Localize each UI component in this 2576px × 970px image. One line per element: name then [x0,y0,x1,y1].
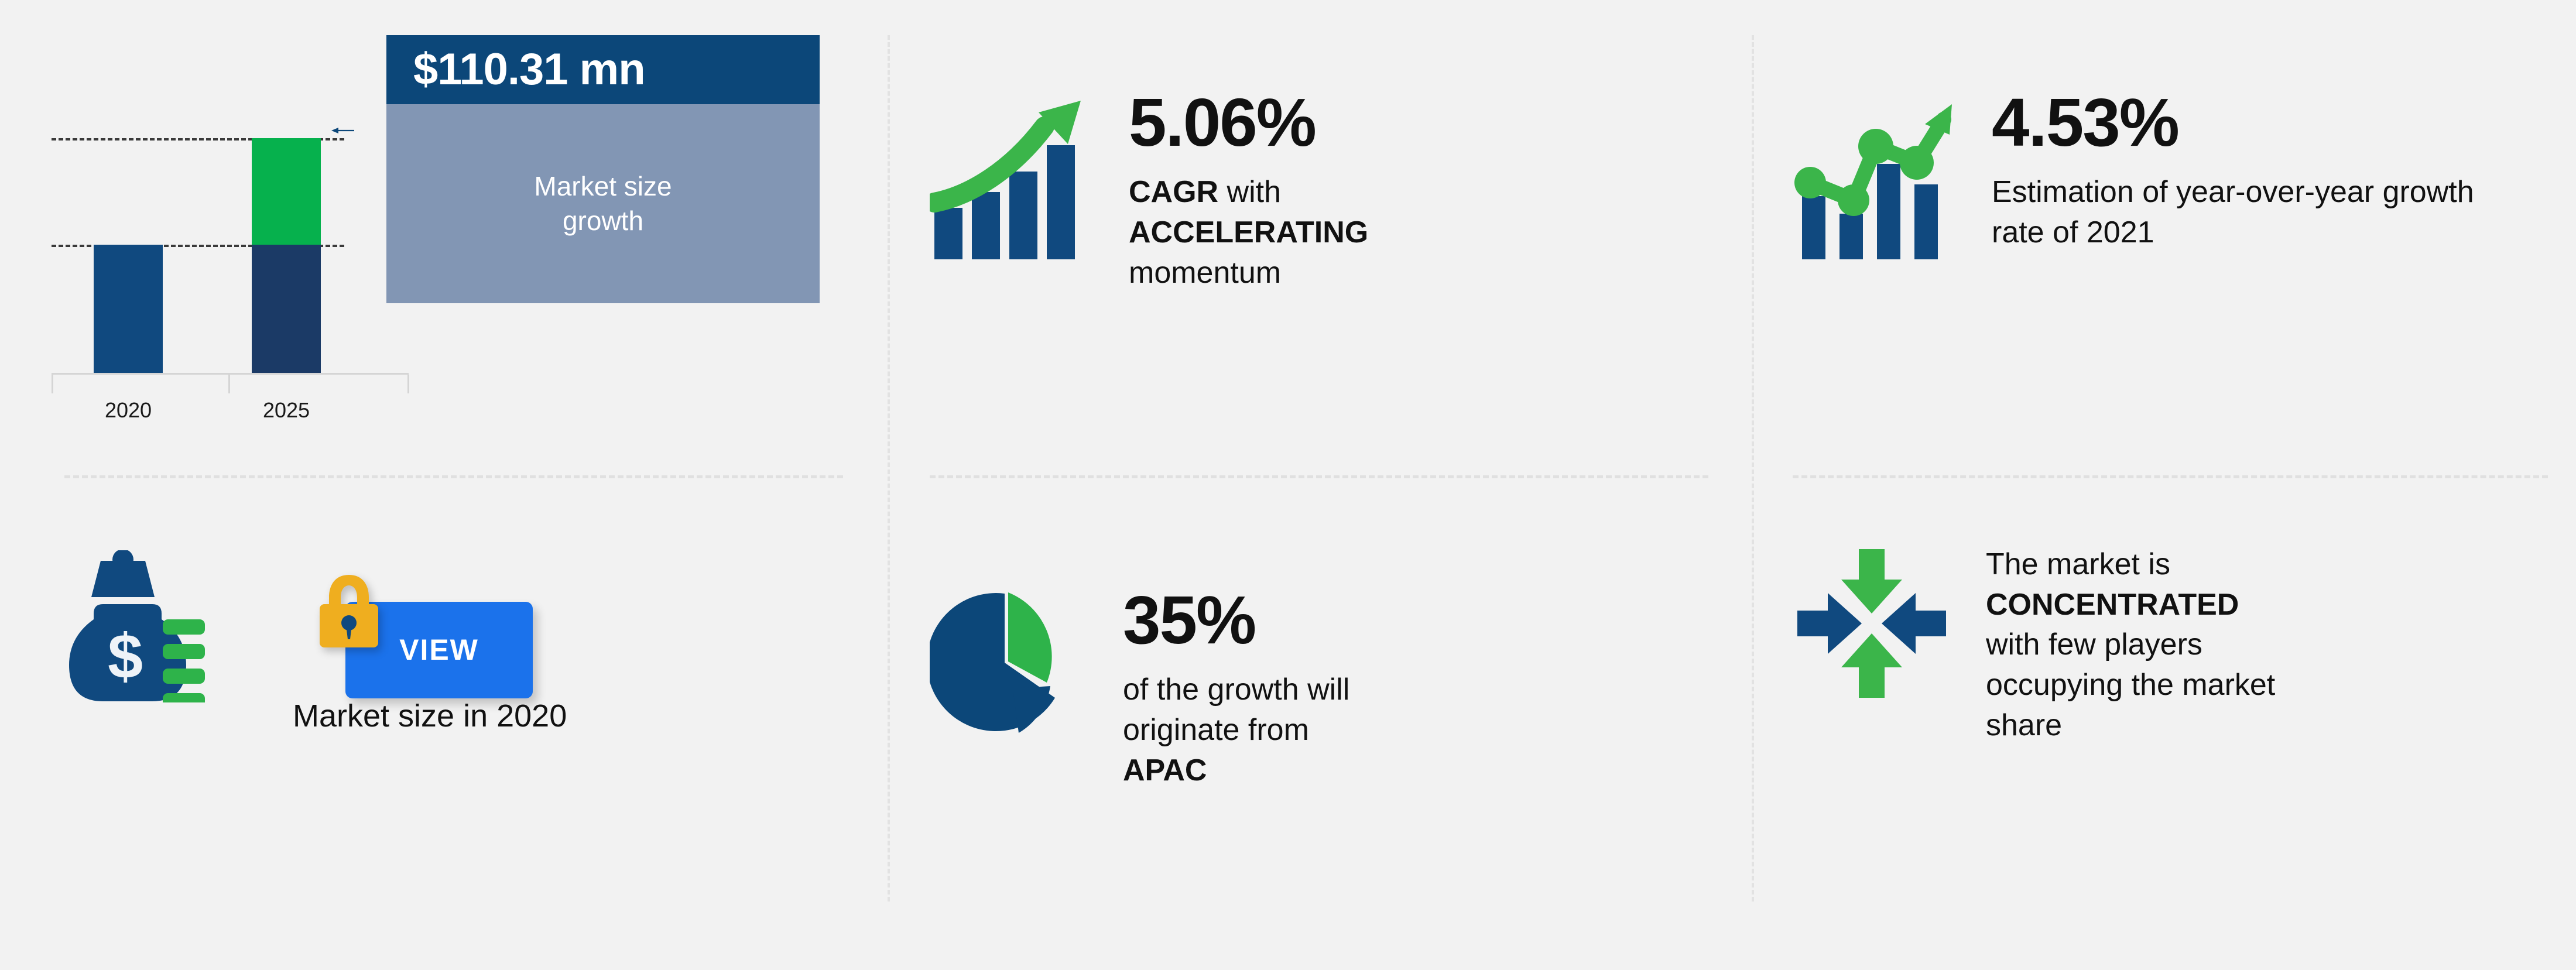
svg-text:$: $ [108,621,143,691]
yoy-growth-card: 4.53% Estimation of year-over-year growt… [1793,88,2554,266]
cagr-strong-label: CAGR [1129,175,1218,209]
concentration-description: The market is CONCENTRATED with few play… [1986,544,2489,745]
concentration-line1: The market is [1986,547,2170,581]
cagr-line1-rest: with [1218,175,1281,209]
concentration-body: The market is CONCENTRATED with few play… [1986,544,2554,745]
bar-2020 [94,245,163,375]
apac-body: 35% of the growth will originate from AP… [1123,585,1703,790]
market-size-2020-row: $ VIEW [64,550,539,705]
apac-line1: of the growth will [1123,673,1349,707]
horizontal-divider-col3 [1793,475,2548,478]
view-report-control[interactable]: VIEW [316,561,539,695]
concentration-line5: share [1986,708,2062,742]
apac-line2: originate from [1123,713,1309,747]
market-size-growth-card: 2020 2025 $110.31 mn Market size growth [0,35,849,468]
apac-figure: 35% [1123,585,1703,654]
bar-2025 [252,138,321,375]
money-bag-icon: $ [64,550,211,705]
apac-description: of the growth will originate from APAC [1123,670,1556,790]
pie-chart-icon [930,585,1088,746]
bar-2025-base-segment [252,245,321,375]
cagr-description: CAGR with ACCELERATING momentum [1129,172,1562,293]
apac-region-strong: APAC [1123,753,1207,787]
concentration-line4: occupying the market [1986,668,2275,702]
line-chart-arrow-icon [1793,88,1957,266]
cagr-line3: momentum [1129,256,1281,290]
axis-tick-end [407,375,409,393]
cagr-momentum-strong: ACCELERATING [1129,215,1368,249]
market-growth-label: Market size growth [386,104,820,303]
horizontal-divider-col1 [64,475,843,478]
lock-icon [316,571,382,649]
market-infographic: 2020 2025 $110.31 mn Market size growth … [0,0,2576,970]
axis-tick-start [52,375,53,393]
horizontal-divider-col2 [930,475,1708,478]
cagr-body: 5.06% CAGR with ACCELERATING momentum [1129,88,1703,293]
axis-tick-mid [228,375,230,393]
yoy-body: 4.53% Estimation of year-over-year growt… [1992,88,2554,253]
apac-growth-card: 35% of the growth will originate from AP… [930,585,1703,790]
market-concentration-card: The market is CONCENTRATED with few play… [1793,544,2554,745]
cagr-figure: 5.06% [1129,88,1703,157]
converging-arrows-icon [1793,544,1951,705]
vertical-divider-2 [1752,35,1754,902]
market-growth-callout: $110.31 mn Market size growth [386,35,820,303]
growth-arrow-bars-icon [930,88,1094,266]
market-size-2020-card: $ VIEW Market size in 2020 [0,544,849,872]
concentration-line3: with few players [1986,628,2202,661]
yoy-figure: 4.53% [1992,88,2554,157]
vertical-divider-1 [888,35,890,902]
market-size-2020-caption: Market size in 2020 [293,698,567,734]
x-axis-line [52,373,409,375]
axis-label-2020: 2020 [81,398,175,423]
market-growth-value: $110.31 mn [386,35,820,104]
yoy-description: Estimation of year-over-year growth rate… [1992,172,2495,252]
callout-arrow-icon [296,128,389,133]
axis-label-2025: 2025 [239,398,333,423]
bar-2025-growth-segment [252,138,321,245]
concentration-strong: CONCENTRATED [1986,588,2239,622]
cagr-card: 5.06% CAGR with ACCELERATING momentum [930,88,1703,293]
